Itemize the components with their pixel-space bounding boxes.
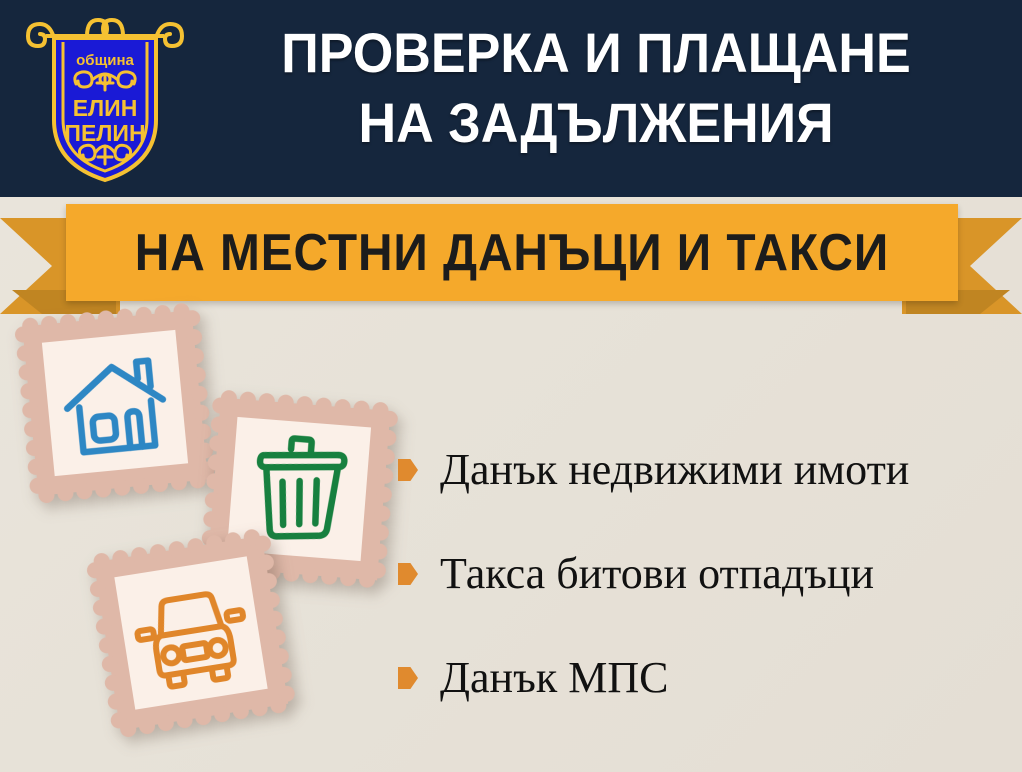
arrow-bullet-icon (398, 459, 418, 481)
coat-of-arms: община ЕЛИН ПЕЛИН (24, 12, 186, 188)
stamp-card-property-tax (14, 302, 217, 505)
crest-name-line1: ЕЛИН (73, 95, 138, 121)
ribbon-label: НА МЕСТНИ ДАНЪЦИ И ТАКСИ (135, 225, 889, 281)
tax-type-list: Данък недвижими имоти Такса битови отпад… (398, 418, 1008, 730)
subtitle-ribbon: НА МЕСТНИ ДАНЪЦИ И ТАКСИ (0, 196, 1022, 314)
stamp-card-vehicle-tax (85, 527, 298, 740)
arrow-bullet-icon (398, 563, 418, 585)
list-item[interactable]: Данък недвижими имоти (398, 418, 1008, 522)
list-item-label: Такса битови отпадъци (440, 549, 874, 599)
arrow-bullet-icon (398, 667, 418, 689)
list-item[interactable]: Такса битови отпадъци (398, 522, 1008, 626)
page-title-line-2: НА ЗАДЪЛЖЕНИЯ (215, 88, 978, 158)
poster-root: община ЕЛИН ПЕЛИН ПРОВЕРК (0, 0, 1022, 772)
crest-name-line2: ПЕЛИН (64, 120, 145, 146)
list-item-label: Данък МПС (440, 653, 668, 703)
list-item-label: Данък недвижими имоти (440, 445, 909, 495)
crest-top-text: община (76, 52, 134, 69)
list-item[interactable]: Данък МПС (398, 626, 1008, 730)
page-title: ПРОВЕРКА И ПЛАЩАНЕ НА ЗАДЪЛЖЕНИЯ (215, 18, 978, 158)
stamp-paper (42, 330, 188, 476)
ribbon-body: НА МЕСТНИ ДАНЪЦИ И ТАКСИ (66, 204, 958, 301)
page-title-line-1: ПРОВЕРКА И ПЛАЩАНЕ (215, 18, 978, 88)
